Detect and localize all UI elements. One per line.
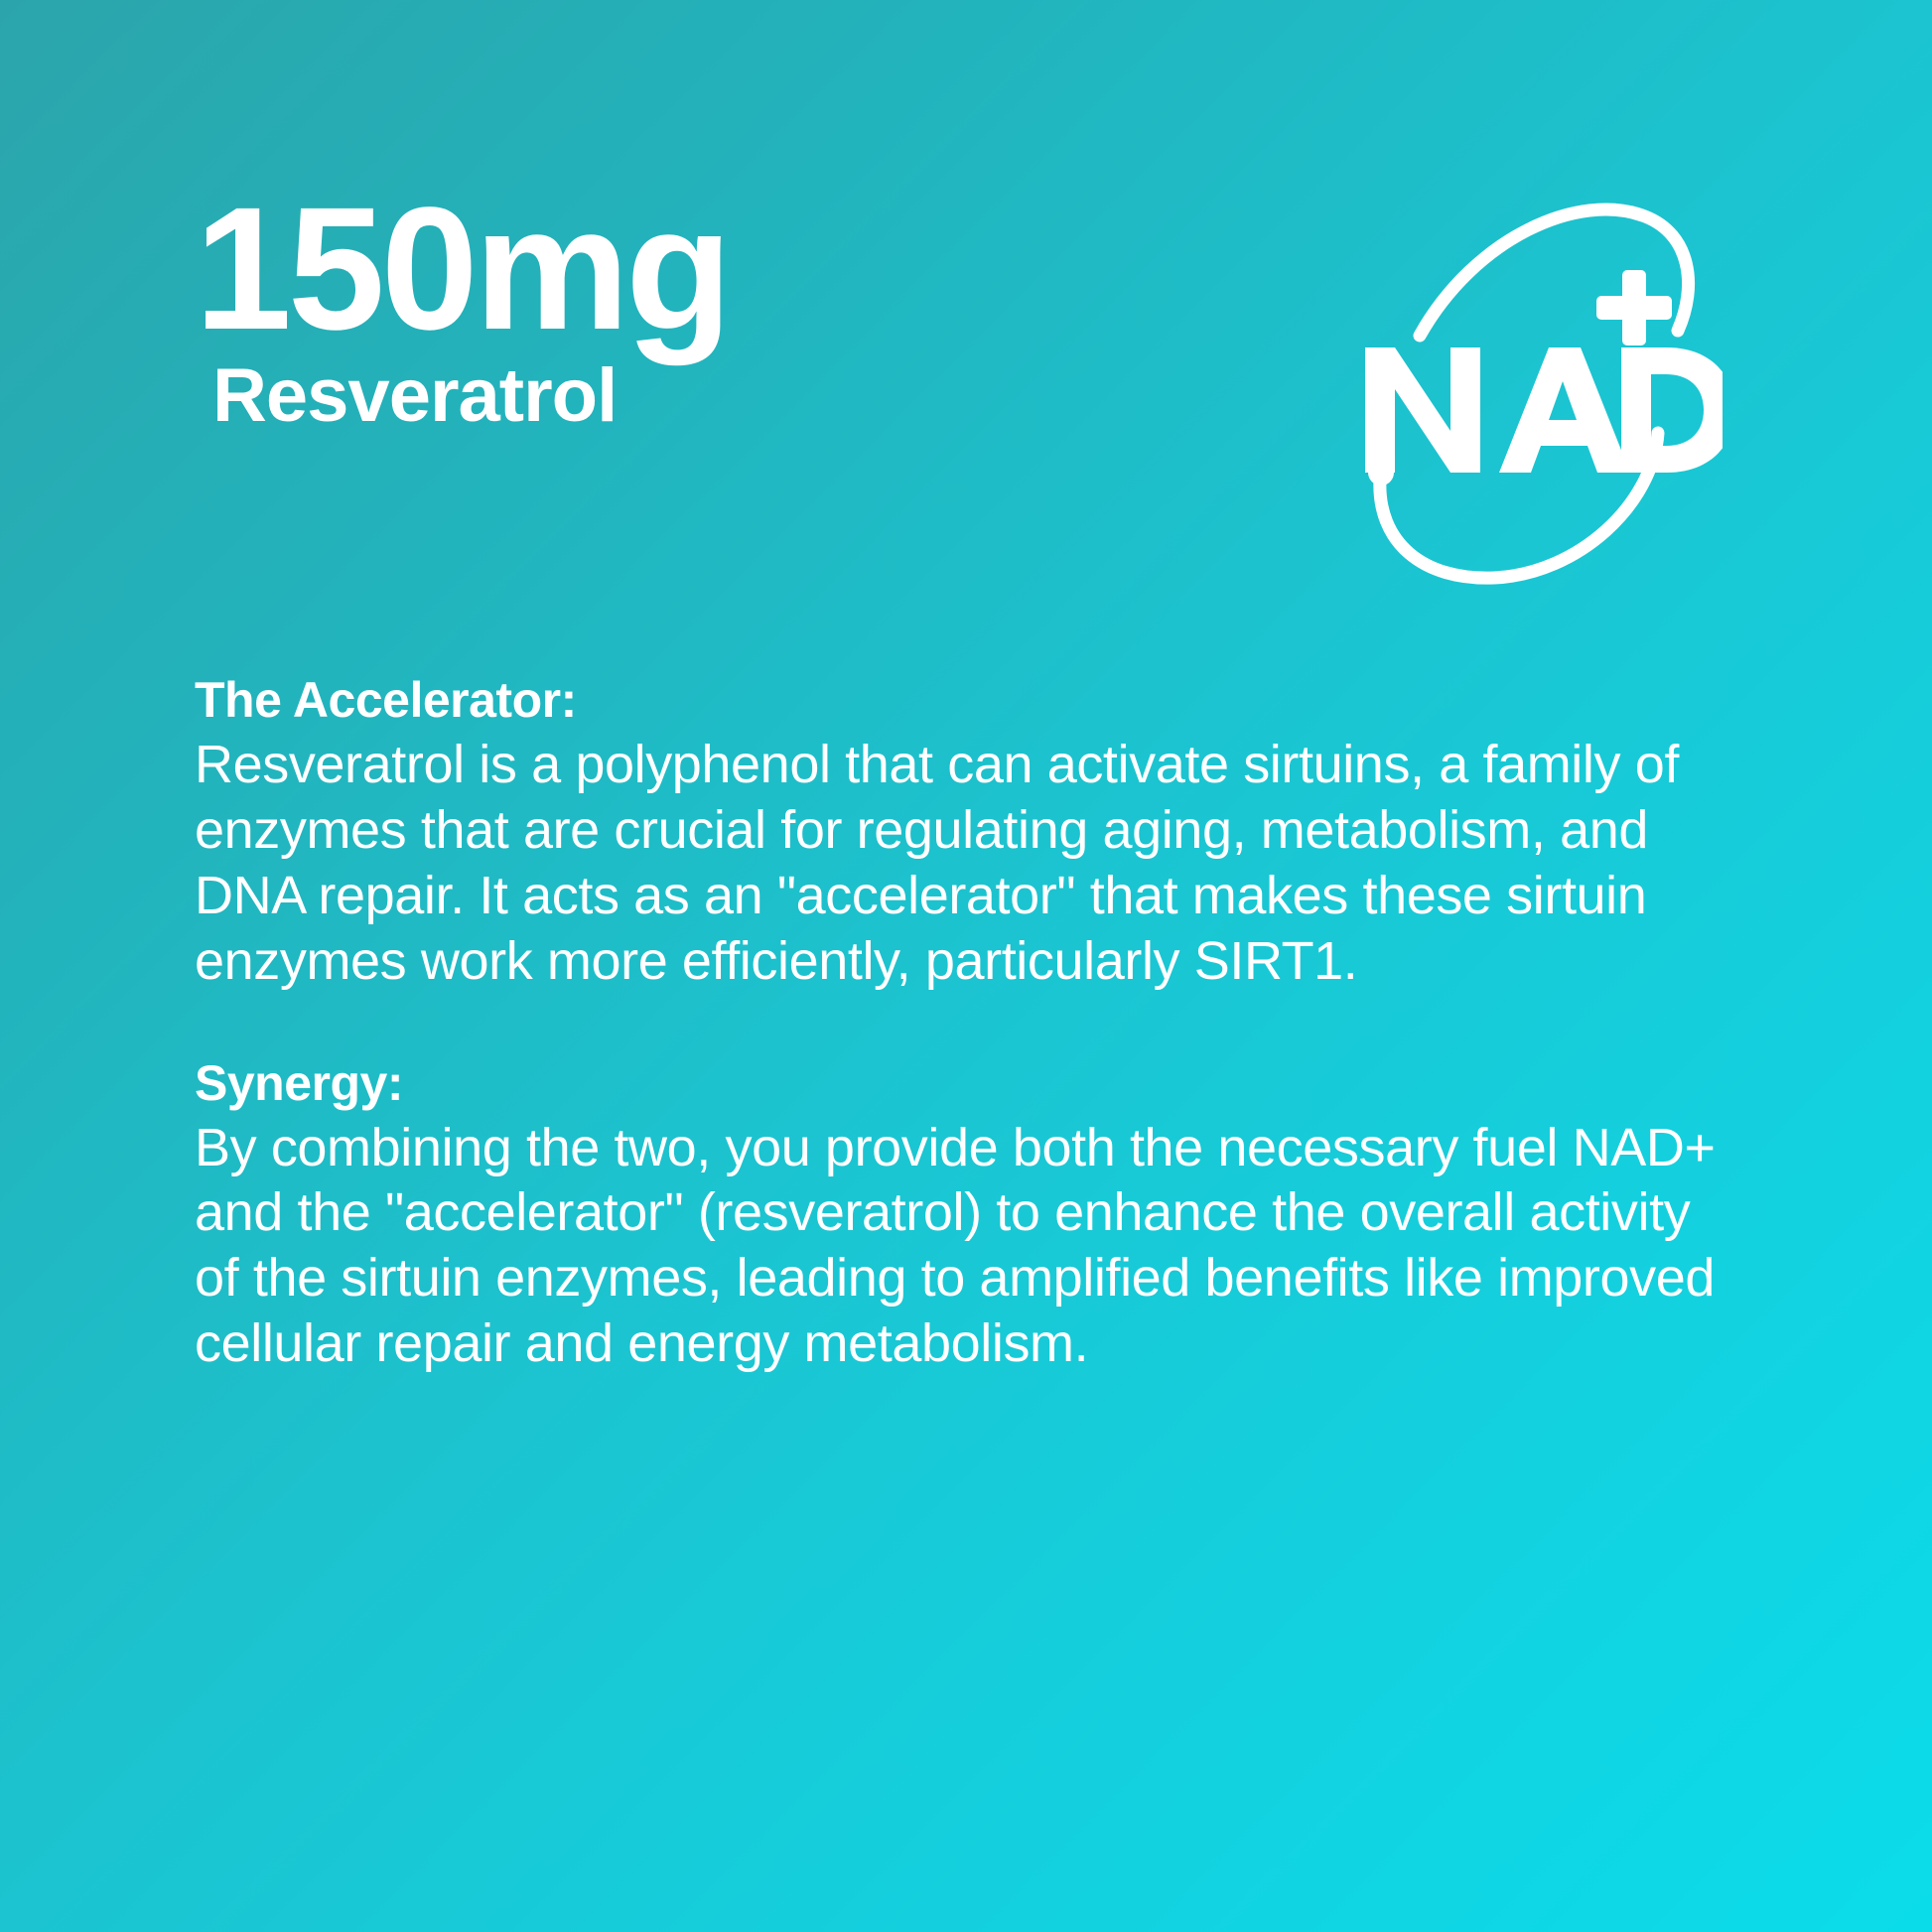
card-header: 150mg Resveratrol (0, 0, 1932, 616)
nad-wordmark-glyphs (1365, 347, 1723, 473)
plus-superscript-glyph (1596, 270, 1672, 345)
dosage-amount: 150mg (195, 195, 1088, 345)
ingredient-name: Resveratrol (212, 358, 1088, 434)
section-body-accelerator: Resveratrol is a polyphenol that can act… (195, 733, 1743, 995)
section-body-synergy: By combining the two, you provide both t… (195, 1116, 1743, 1378)
section-synergy: Synergy: By combining the two, you provi… (195, 1054, 1783, 1378)
section-accelerator: The Accelerator: Resveratrol is a polyph… (195, 671, 1783, 995)
resveratrol-info-card: 150mg Resveratrol (0, 0, 1932, 1932)
nad-plus-orbit-logo (1325, 177, 1723, 594)
section-heading-synergy: Synergy: (195, 1054, 1783, 1112)
card-body: The Accelerator: Resveratrol is a polyph… (195, 671, 1783, 1377)
dosage-block: 150mg Resveratrol (195, 195, 1088, 434)
section-heading-accelerator: The Accelerator: (195, 671, 1783, 729)
